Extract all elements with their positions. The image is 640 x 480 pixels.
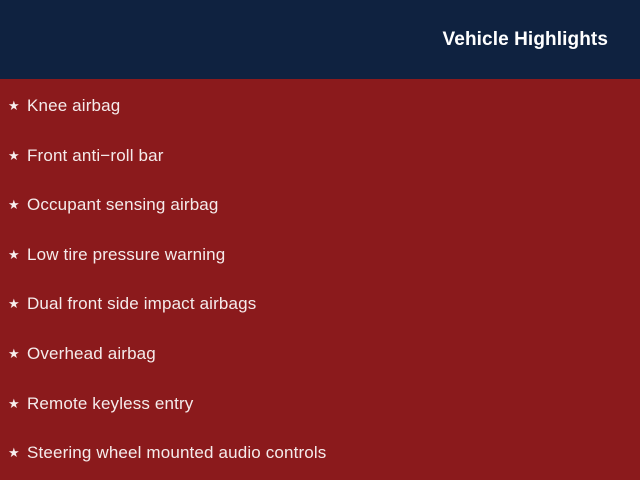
list-item-label: Steering wheel mounted audio controls — [27, 440, 326, 466]
list-item: ★Low tire pressure warning — [0, 242, 640, 268]
star-icon: ★ — [8, 242, 27, 268]
list-item-label: Occupant sensing airbag — [27, 192, 219, 218]
star-icon: ★ — [8, 192, 27, 218]
vehicle-highlights-slide: Vehicle Highlights ★Knee airbag★Front an… — [0, 0, 640, 480]
star-icon: ★ — [8, 440, 27, 466]
star-icon: ★ — [8, 341, 27, 367]
list-item: ★Occupant sensing airbag — [0, 192, 640, 218]
page-title: Vehicle Highlights — [443, 28, 608, 52]
slide-header-band: Vehicle Highlights — [0, 0, 640, 79]
list-item-label: Knee airbag — [27, 93, 120, 119]
list-item: ★Front anti−roll bar — [0, 143, 640, 169]
list-item-label: Overhead airbag — [27, 341, 156, 367]
list-item: ★Overhead airbag — [0, 341, 640, 367]
list-item: ★Knee airbag — [0, 93, 640, 119]
vehicle-highlights-list: ★Knee airbag★Front anti−roll bar★Occupan… — [0, 79, 640, 480]
star-icon: ★ — [8, 291, 27, 317]
list-item-label: Low tire pressure warning — [27, 242, 225, 268]
list-item-label: Front anti−roll bar — [27, 143, 164, 169]
list-item: ★Remote keyless entry — [0, 391, 640, 417]
star-icon: ★ — [8, 391, 27, 417]
star-icon: ★ — [8, 93, 27, 119]
star-icon: ★ — [8, 143, 27, 169]
list-item: ★Steering wheel mounted audio controls — [0, 440, 640, 466]
list-item: ★Dual front side impact airbags — [0, 291, 640, 317]
list-item-label: Dual front side impact airbags — [27, 291, 256, 317]
list-item-label: Remote keyless entry — [27, 391, 193, 417]
